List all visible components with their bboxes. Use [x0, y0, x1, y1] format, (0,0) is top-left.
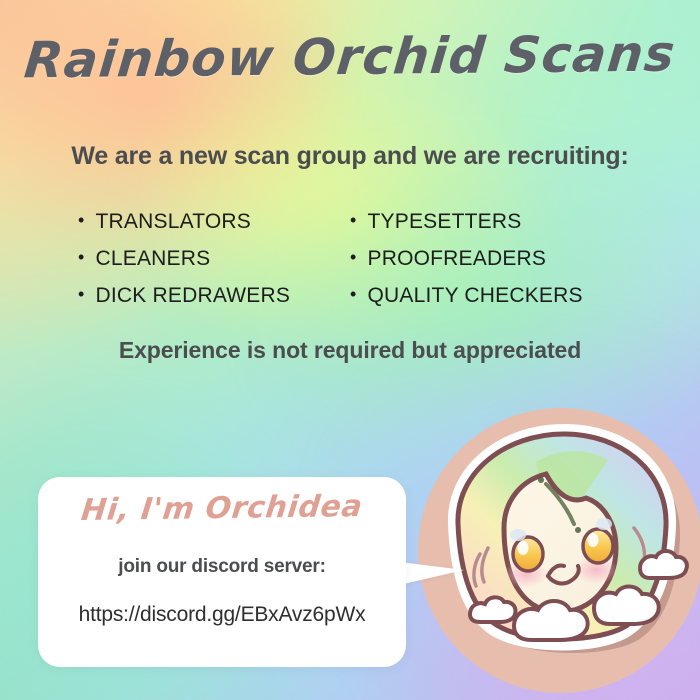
hair-dot — [575, 527, 581, 533]
role-label: PROOFREADERS — [368, 240, 547, 277]
bullet-icon: • — [78, 285, 85, 303]
role-label: DICK REDRAWERS — [96, 277, 291, 314]
roles-list: • TRANSLATORS • CLEANERS • DICK REDRAWER… — [78, 203, 638, 314]
eye-left — [513, 537, 543, 571]
experience-note: Experience is not required but appreciat… — [0, 337, 700, 364]
bullet-icon: • — [350, 211, 357, 229]
bullet-icon: • — [78, 248, 85, 266]
list-item: • CLEANERS — [78, 240, 350, 277]
role-label: QUALITY CHECKERS — [368, 277, 583, 314]
bullet-icon: • — [350, 285, 357, 303]
recruitment-poster: Rainbow Orchid Scans We are a new scan g… — [0, 0, 700, 700]
mascot-greeting: Hi, I'm Orchidea — [36, 488, 408, 528]
role-label: TRANSLATORS — [96, 203, 251, 240]
roles-left-column: • TRANSLATORS • CLEANERS • DICK REDRAWER… — [78, 203, 350, 314]
poster-content: Rainbow Orchid Scans We are a new scan g… — [0, 0, 700, 700]
eye-right — [583, 529, 613, 563]
eye-sparkle-left — [510, 529, 526, 541]
role-label: TYPESETTERS — [368, 203, 522, 240]
list-item: • PROOFREADERS — [350, 240, 622, 277]
mascot-avatar — [418, 408, 700, 693]
discord-invite-card: Hi, I'm Orchidea join our discord server… — [38, 477, 406, 667]
recruiting-subtitle: We are a new scan group and we are recru… — [0, 142, 700, 171]
invite-label: join our discord server: — [38, 556, 406, 578]
hair-dot — [538, 477, 544, 483]
orchidea-mascot-icon — [418, 408, 700, 693]
bullet-icon: • — [350, 248, 357, 266]
eye-sparkle-right — [596, 518, 612, 530]
list-item: • TYPESETTERS — [350, 203, 622, 240]
discord-invite-link[interactable]: https://discord.gg/EBxAvz6pWx — [38, 603, 406, 627]
eye-shine-left — [518, 541, 529, 555]
page-title: Rainbow Orchid Scans — [0, 24, 700, 89]
list-item: • QUALITY CHECKERS — [350, 277, 622, 314]
roles-right-column: • TYPESETTERS • PROOFREADERS • QUALITY C… — [350, 203, 622, 314]
role-label: CLEANERS — [96, 240, 211, 277]
cloud-far-right — [640, 551, 687, 578]
bullet-icon: • — [78, 211, 85, 229]
eye-shine-right — [588, 533, 599, 547]
list-item: • DICK REDRAWERS — [78, 277, 350, 314]
list-item: • TRANSLATORS — [78, 203, 350, 240]
